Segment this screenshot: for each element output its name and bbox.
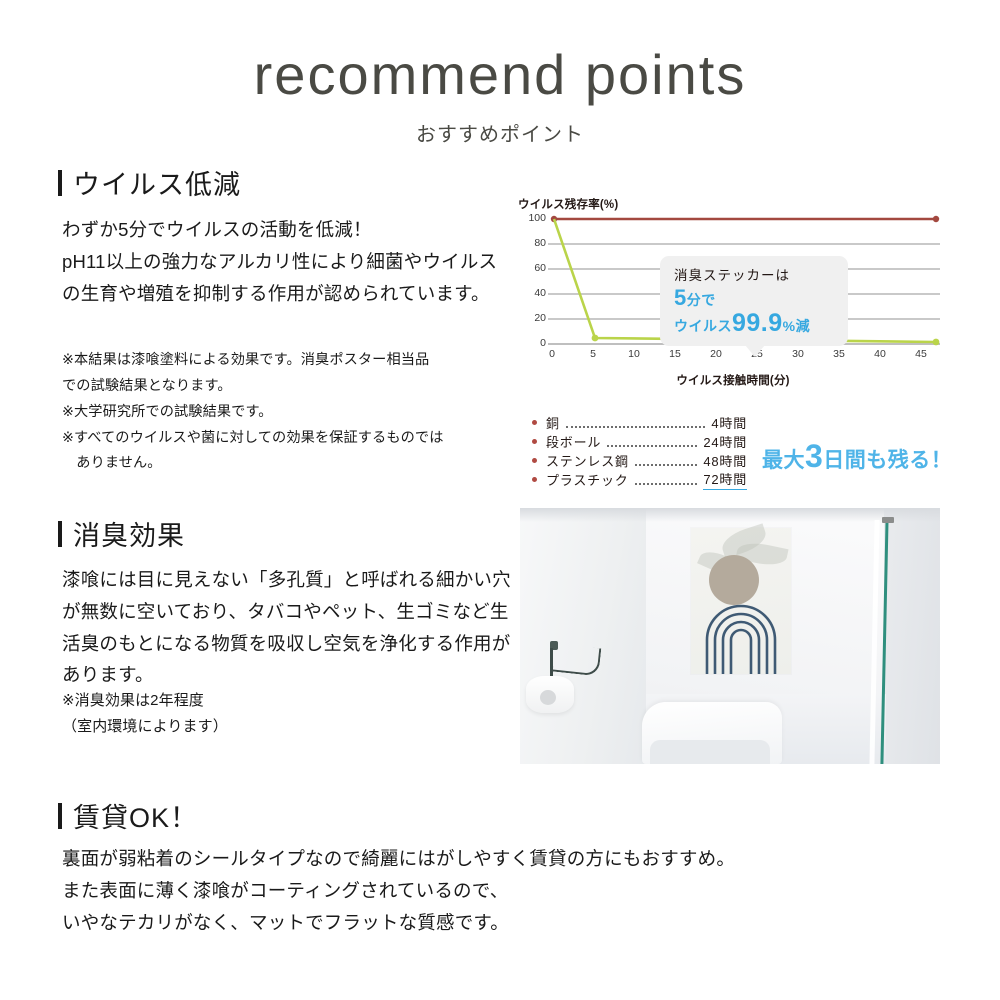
remark-number: 3	[805, 438, 823, 474]
bullet-icon	[532, 420, 537, 425]
callout-line-3: ウイルス99.9%減	[674, 310, 840, 337]
leader-dots	[635, 474, 698, 485]
x-tick-0: 0	[549, 348, 555, 360]
toilet-paper-core	[540, 690, 556, 705]
heading-bar-icon	[58, 170, 62, 196]
heading-bar-icon	[58, 803, 62, 829]
section-heading-rental: 賃貸OK！	[58, 796, 198, 835]
arch-lines-icon	[699, 604, 783, 674]
photo-wall-right	[884, 508, 940, 764]
chart-plot-area: 100 80 60 40 20 0 0 5 10 15 20 25 30 35 …	[548, 218, 940, 343]
bullet-icon	[532, 458, 537, 463]
leader-dots	[566, 417, 706, 428]
x-tick-5: 5	[590, 348, 596, 360]
legend-material-name: 段ボール	[546, 432, 601, 451]
legend-row: プラスチック 72時間	[532, 470, 747, 489]
heading-bar-icon	[58, 521, 62, 547]
series-point-sticker-end	[933, 339, 940, 346]
callout-percent-sign: %	[783, 318, 796, 334]
remark-suffix: 日間も残る！	[823, 449, 952, 472]
legend-material-name: 銅	[546, 413, 560, 432]
y-tick-20: 20	[522, 312, 546, 324]
x-tick-10: 10	[628, 348, 640, 360]
wall-poster	[691, 528, 791, 674]
y-tick-60: 60	[522, 262, 546, 274]
x-tick-45: 45	[915, 348, 927, 360]
section-heading-deodorize: 消臭効果	[58, 514, 185, 553]
legend-row: ステンレス鋼 48時間	[532, 451, 747, 470]
x-tick-30: 30	[792, 348, 804, 360]
toilet-paper-arm	[553, 644, 602, 677]
bathroom-photo	[520, 508, 940, 764]
page-title: recommend points	[0, 44, 1000, 106]
section-body-deodorize: 漆喰には目に見えない「多孔質」と呼ばれる細かい穴が無数に空いており、タバコやペッ…	[62, 564, 514, 691]
page-subtitle: おすすめポイント	[0, 118, 1000, 147]
callout-minutes-value: 5	[674, 285, 687, 310]
legend-row: 段ボール 24時間	[532, 432, 747, 451]
callout-reduction-value: 99.9	[732, 309, 783, 337]
bullet-icon	[532, 477, 537, 482]
legend-row: 銅 4時間	[532, 413, 747, 432]
section-body-rental: 裏面が弱粘着のシールタイプなので綺麗にはがしやすく賃貸の方にもおすすめ。 また表…	[62, 843, 862, 938]
callout-reduction-tail: 減	[796, 318, 811, 334]
toilet-body	[650, 740, 770, 764]
survival-duration-legend: 銅 4時間 段ボール 24時間 ステンレス鋼 48時間 プラスチック 72時間	[532, 413, 747, 489]
virus-survival-chart: ウイルス残存率(%) 100 80 60 40 20 0 0 5 10 15 2…	[518, 196, 948, 396]
glass-panel-bracket	[882, 517, 894, 523]
x-tick-20: 20	[710, 348, 722, 360]
leader-dots	[635, 455, 698, 466]
section-heading-label: 消臭効果	[73, 514, 185, 553]
callout-line-2: 5分で	[674, 286, 840, 310]
legend-material-name: ステンレス鋼	[546, 451, 629, 470]
callout-virus-head: ウイルス	[674, 318, 732, 334]
section-heading-virus: ウイルス低減	[58, 163, 241, 202]
page-header: recommend points おすすめポイント	[0, 44, 1000, 147]
y-tick-0: 0	[522, 337, 546, 349]
series-point-control-end	[933, 216, 939, 222]
legend-duration-value: 4時間	[711, 413, 747, 432]
series-point-sticker-5min	[592, 335, 599, 342]
callout-minutes-unit: 分	[687, 292, 702, 308]
leader-dots	[607, 436, 697, 447]
section-notes-virus: ※本結果は漆喰塗料による効果です。消臭ポスター相当品 での試験結果となります。 …	[62, 348, 522, 477]
chart-callout-bubble: 消臭ステッカーは 5分で ウイルス99.9%減	[660, 256, 848, 346]
x-tick-35: 35	[833, 348, 845, 360]
y-tick-40: 40	[522, 287, 546, 299]
y-tick-100: 100	[522, 212, 546, 224]
x-tick-40: 40	[874, 348, 886, 360]
poster-circle-shape	[709, 555, 759, 605]
photo-wall-left	[520, 508, 648, 764]
section-heading-label: ウイルス低減	[73, 163, 241, 202]
max-duration-remark: 最大3日間も残る！	[762, 438, 952, 475]
section-body-virus: わずか5分でウイルスの活動を低減！ pH11以上の強力なアルカリ性により細菌やウ…	[62, 214, 512, 309]
poster-arch-shape	[699, 604, 783, 674]
y-tick-80: 80	[522, 237, 546, 249]
x-tick-15: 15	[669, 348, 681, 360]
section-heading-label: 賃貸OK！	[73, 796, 198, 835]
chart-y-axis-label: ウイルス残存率(%)	[518, 196, 618, 212]
legend-duration-value: 48時間	[703, 451, 747, 470]
legend-duration-value: 24時間	[703, 432, 747, 451]
callout-line-1: 消臭ステッカーは	[674, 264, 840, 284]
section-notes-deodorize: ※消臭効果は2年程度 （室内環境によります）	[62, 688, 514, 741]
remark-prefix: 最大	[762, 449, 805, 472]
chart-x-axis-label: ウイルス接触時間(分)	[518, 372, 948, 388]
legend-duration-value: 72時間	[703, 469, 747, 490]
callout-minutes-tail: で	[701, 292, 716, 308]
bullet-icon	[532, 439, 537, 444]
legend-material-name: プラスチック	[546, 470, 629, 489]
